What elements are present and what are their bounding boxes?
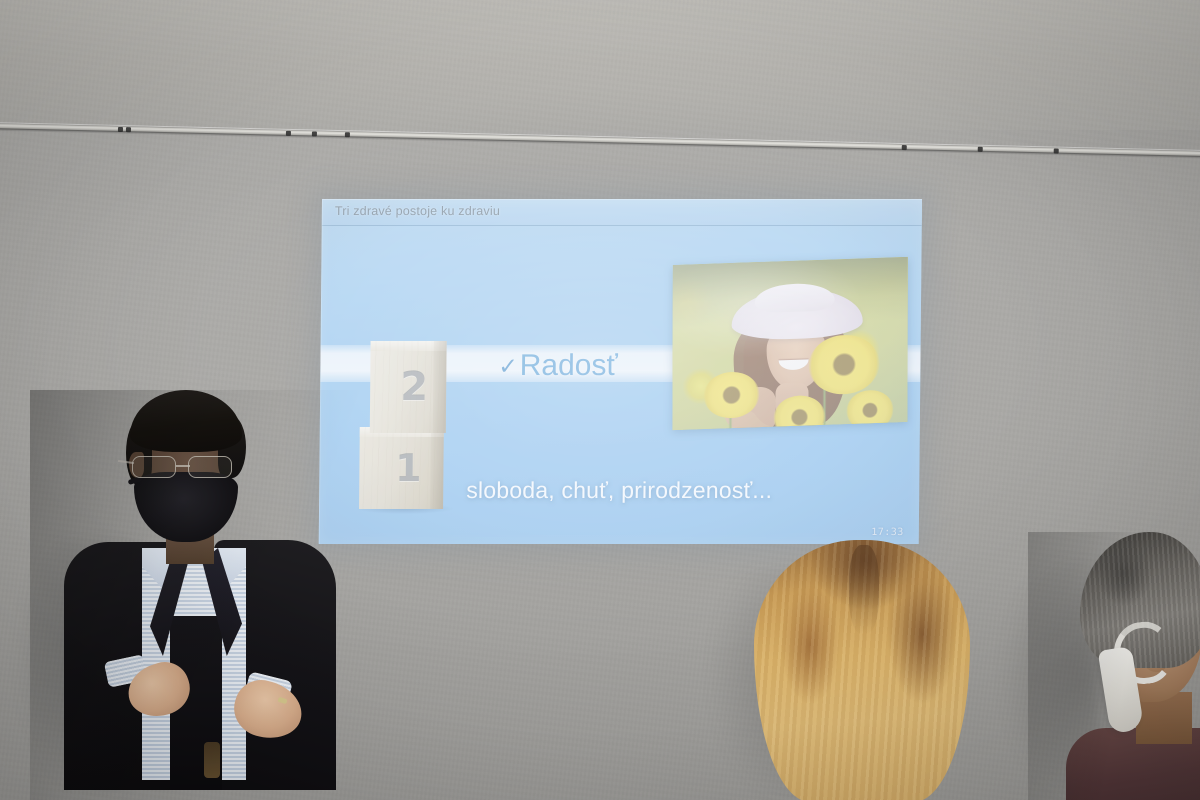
- rail-screw: [286, 131, 291, 136]
- projected-slide: Tri zdravé postoje ku zdraviu 1 2: [319, 199, 922, 544]
- slide-bullet: ✓ Radosť: [498, 349, 618, 383]
- checkmark-icon: ✓: [498, 352, 518, 379]
- rail-screw: [978, 147, 983, 152]
- slide-bullet-label: Radosť: [520, 349, 618, 383]
- block-digit: 2: [370, 341, 447, 433]
- slide-clock: 17:33: [871, 527, 904, 538]
- wall-upper-tint: [0, 0, 1200, 130]
- presenter: [30, 390, 360, 800]
- slide-canvas: Tri zdravé postoje ku zdraviu 1 2: [319, 199, 922, 544]
- audience-member-blonde: [736, 540, 988, 800]
- wooden-block-2: 2: [370, 341, 447, 433]
- presenter-hair: [130, 390, 242, 452]
- slide-title-rule: [322, 225, 922, 226]
- glasses-lens-right: [188, 456, 232, 478]
- rail-screw: [345, 132, 350, 137]
- blonde-hair: [754, 540, 970, 800]
- photo-scene: Tri zdravé postoje ku zdraviu 1 2: [0, 0, 1200, 800]
- rail-screw: [902, 145, 907, 150]
- slide-photo-sunflower-woman: [672, 257, 907, 430]
- slide-caption: sloboda, chuť, prirodzenosť...: [319, 477, 919, 504]
- presenter-face-mask: [134, 472, 238, 542]
- photo-sunflower: [846, 389, 893, 430]
- rail-screw: [312, 131, 317, 136]
- glasses-bridge: [176, 465, 190, 467]
- glasses-lens-left: [132, 456, 176, 478]
- presenter-lanyard-badge: [204, 742, 220, 778]
- rail-screw: [126, 127, 131, 132]
- slide-title: Tri zdravé postoje ku zdraviu: [335, 204, 500, 218]
- blonde-hair-part: [849, 545, 879, 634]
- audience-member-grey: [1028, 532, 1200, 800]
- rail-screw: [1054, 149, 1059, 154]
- presenter-glasses: [126, 456, 250, 480]
- rail-screw: [118, 127, 123, 132]
